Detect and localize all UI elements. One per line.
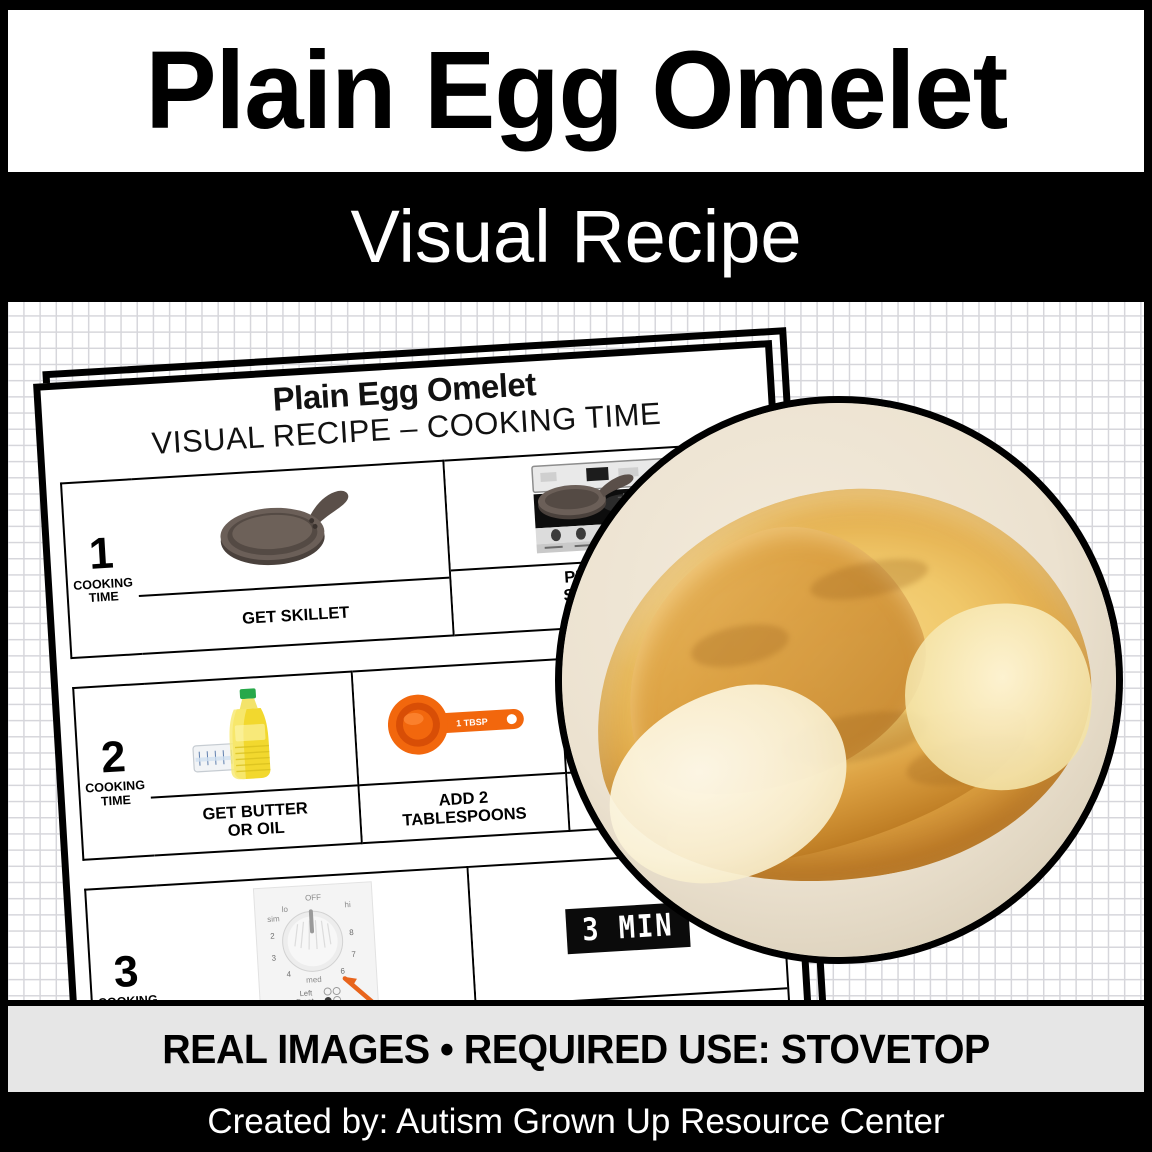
step-time-label-line1: COOKING: [98, 993, 158, 1000]
step-time-label-line2: TIME: [89, 589, 120, 605]
step-number-cell: 2 COOKING TIME: [72, 683, 154, 861]
omelet-photo-circle: [555, 396, 1123, 964]
svg-text:1 TBSP: 1 TBSP: [456, 717, 488, 729]
page-title: Plain Egg Omelet: [145, 36, 1007, 146]
step-time-label: COOKING TIME: [73, 576, 134, 606]
cell-image: [132, 462, 449, 598]
svg-text:OFF: OFF: [304, 893, 321, 903]
cell-image: OFF lo sim hi 2 3 4 8 7: [156, 868, 475, 1000]
step-number-cell: 3 COOKING TIME: [84, 885, 168, 1000]
cell-image: [144, 673, 357, 799]
cell-image: 1 TBSP: [352, 660, 565, 786]
cell-label: GET BUTTER OR OIL: [151, 787, 361, 855]
svg-text:lo: lo: [281, 905, 288, 914]
step-number-cell: 1 COOKING TIME: [60, 478, 142, 659]
burner-dial-icon: OFF lo sim hi 2 3 4 8 7: [251, 880, 380, 1000]
credit-text: Created by: Autism Grown Up Resource Cen…: [207, 1102, 944, 1142]
oil-bottle-icon: [184, 681, 318, 788]
svg-text:sim: sim: [267, 914, 280, 924]
step-cell: OFF lo sim hi 2 3 4 8 7: [156, 866, 480, 1000]
tablespoon-icon: 1 TBSP: [382, 682, 536, 763]
step-number: 1: [88, 532, 115, 575]
feature-banner-text: REAL IMAGES • REQUIRED USE: STOVETOP: [162, 1026, 990, 1073]
step-cell: GET BUTTER OR OIL: [144, 671, 363, 857]
step-cell: 1 TBSP ADD 2 TABLESPOONS: [352, 658, 571, 844]
title-band: Plain Egg Omelet: [8, 10, 1144, 172]
step-number: 2: [100, 736, 127, 779]
subtitle-band: Visual Recipe: [0, 172, 1152, 300]
step-time-label-line2: TIME: [101, 792, 132, 808]
page-subtitle: Visual Recipe: [350, 194, 801, 279]
cell-label: ADD 2 TABLESPOONS: [359, 774, 569, 842]
step-number: 3: [113, 950, 140, 993]
poster-root: Plain Egg Omelet Visual Recipe Plain Egg…: [0, 0, 1152, 1152]
svg-text:hi: hi: [344, 900, 351, 909]
svg-text:Front: Front: [295, 996, 314, 1000]
feature-banner: REAL IMAGES • REQUIRED USE: STOVETOP: [8, 1006, 1144, 1092]
step-cell: GET SKILLET: [132, 459, 455, 655]
skillet-icon: [213, 478, 368, 579]
timer-display-value: 3 MIN: [581, 907, 674, 948]
step-time-label: COOKING TIME: [98, 994, 159, 1000]
grid-paper-background: Plain Egg Omelet VISUAL RECIPE – COOKING…: [8, 302, 1144, 1000]
step-time-label: COOKING TIME: [85, 779, 146, 809]
svg-text:med: med: [305, 975, 321, 985]
credit-line: Created by: Autism Grown Up Resource Cen…: [0, 1092, 1152, 1152]
